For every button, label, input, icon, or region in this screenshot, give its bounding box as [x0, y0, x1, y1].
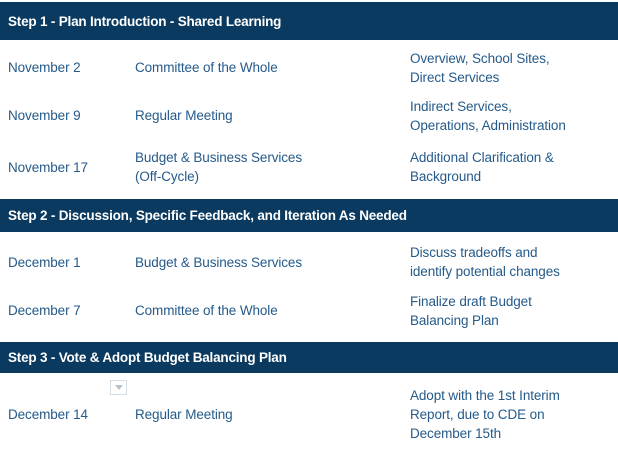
row-topic: Adopt with the 1st Interim Report, due t… — [410, 386, 615, 443]
chevron-down-icon — [115, 385, 123, 390]
section-header-step-2: Step 2 - Discussion, Specific Feedback, … — [0, 199, 618, 232]
section-header-step-1: Step 1 - Plan Introduction - Shared Lear… — [0, 2, 618, 40]
row-meeting: Committee of the Whole — [135, 301, 400, 320]
row-meeting: Regular Meeting — [135, 405, 400, 424]
row-date: December 14 — [8, 405, 128, 424]
row-topic: Overview, School Sites, Direct Services — [410, 49, 615, 87]
dropdown-toggle-button[interactable] — [110, 380, 127, 395]
row-date: November 9 — [8, 106, 128, 125]
row-topic: Finalize draft Budget Balancing Plan — [410, 292, 615, 330]
row-date: November 17 — [8, 158, 128, 177]
row-date: December 1 — [8, 253, 128, 272]
schedule-table: Step 1 - Plan Introduction - Shared Lear… — [0, 0, 618, 458]
row-meeting: Budget & Business Services (Off-Cycle) — [135, 148, 400, 186]
row-meeting: Regular Meeting — [135, 106, 400, 125]
row-topic: Additional Clarification & Background — [410, 148, 615, 186]
row-topic: Indirect Services, Operations, Administr… — [410, 97, 615, 135]
row-date: November 2 — [8, 58, 128, 77]
section-header-step-3: Step 3 - Vote & Adopt Budget Balancing P… — [0, 342, 618, 373]
row-meeting: Budget & Business Services — [135, 253, 400, 272]
row-meeting: Committee of the Whole — [135, 58, 400, 77]
row-date: December 7 — [8, 301, 128, 320]
row-topic: Discuss tradeoffs and identify potential… — [410, 243, 615, 281]
